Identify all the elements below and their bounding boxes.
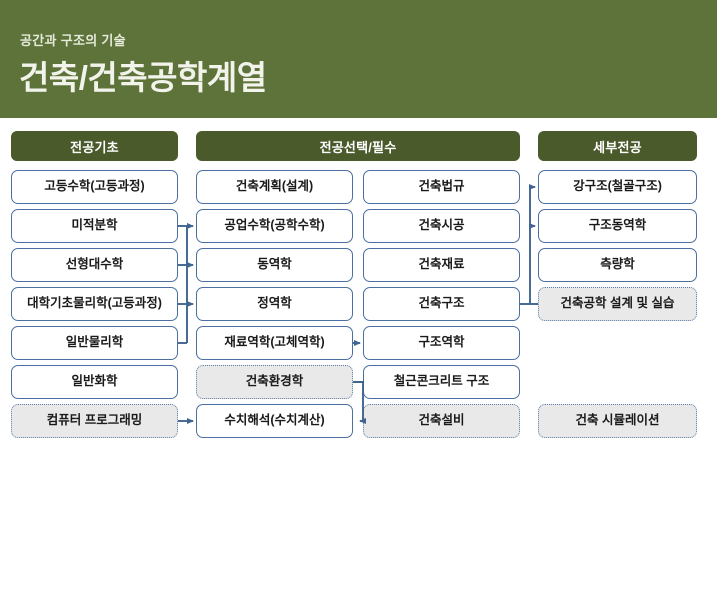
course-node[interactable]: 컴퓨터 프로그래밍 [11, 404, 178, 438]
course-node[interactable]: 대학기초물리학(고등과정) [11, 287, 178, 321]
column-header-1: 전공선택/필수 [196, 131, 520, 161]
course-node[interactable]: 건축 시뮬레이션 [538, 404, 697, 438]
page-title: 건축/건축공학계열 [19, 51, 267, 99]
course-node[interactable]: 재료역학(고체역학) [196, 326, 353, 360]
course-node[interactable]: 강구조(철골구조) [538, 170, 697, 204]
course-node[interactable]: 건축환경학 [196, 365, 353, 399]
course-node[interactable]: 일반화학 [11, 365, 178, 399]
course-node[interactable]: 철근콘크리트 구조 [363, 365, 520, 399]
course-node[interactable]: 건축공학 설계 및 실습 [538, 287, 697, 321]
course-node[interactable]: 공업수학(공학수학) [196, 209, 353, 243]
course-node[interactable]: 미적분학 [11, 209, 178, 243]
course-node[interactable]: 정역학 [196, 287, 353, 321]
column-header-2: 세부전공 [538, 131, 697, 161]
course-node[interactable]: 건축설비 [363, 404, 520, 438]
course-node[interactable]: 건축재료 [363, 248, 520, 282]
column-header-0: 전공기초 [11, 131, 178, 161]
course-node[interactable]: 건축법규 [363, 170, 520, 204]
course-node[interactable]: 동역학 [196, 248, 353, 282]
course-node[interactable]: 구조역학 [363, 326, 520, 360]
course-node[interactable]: 건축시공 [363, 209, 520, 243]
course-node[interactable]: 선형대수학 [11, 248, 178, 282]
course-node[interactable]: 건축구조 [363, 287, 520, 321]
connector-arrow [353, 382, 363, 421]
course-node[interactable]: 고등수학(고등과정) [11, 170, 178, 204]
course-node[interactable]: 일반물리학 [11, 326, 178, 360]
page-subtitle: 공간과 구조의 기술 [20, 30, 126, 49]
course-node[interactable]: 수치해석(수치계산) [196, 404, 353, 438]
course-node[interactable]: 구조동역학 [538, 209, 697, 243]
course-node[interactable]: 측량학 [538, 248, 697, 282]
course-node[interactable]: 건축계획(설계) [196, 170, 353, 204]
